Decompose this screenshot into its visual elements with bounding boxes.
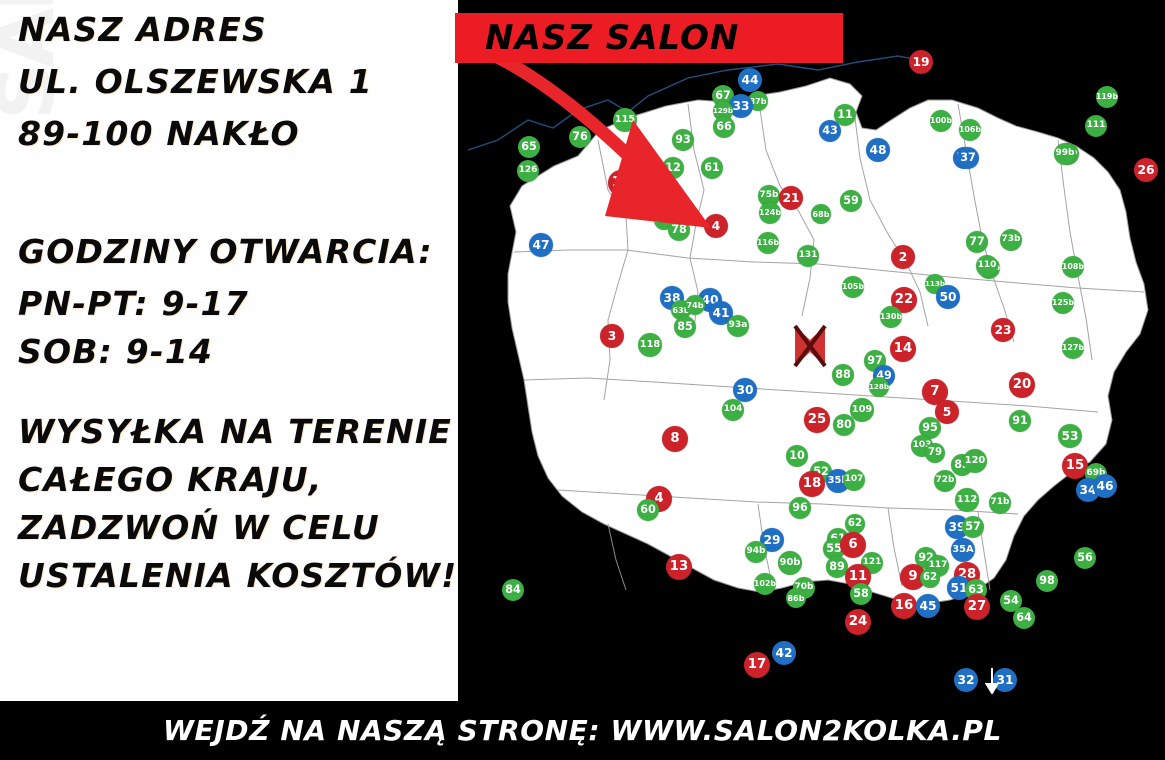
map-marker[interactable]: 71b [989,492,1011,514]
map-marker[interactable]: 35A [951,538,975,562]
map-marker[interactable]: 74b [685,295,705,315]
map-marker[interactable]: 105b [842,276,864,298]
info-panel: SALON 2 KOŁKA NASZ ADRESUL. OLSZEWSKA 18… [0,0,458,701]
map-marker[interactable]: 108b [1062,256,1084,278]
map-marker[interactable]: 85 [674,316,696,338]
map-marker[interactable]: 73b [1000,229,1022,251]
map-marker[interactable]: 112 [955,488,979,512]
map-marker[interactable]: 25 [804,407,830,433]
map-marker[interactable]: 100b [930,110,952,132]
map-marker[interactable]: 126 [517,160,539,182]
map-marker[interactable]: 80 [833,414,855,436]
map-marker[interactable]: 2 [891,245,915,269]
map-marker[interactable]: 119b [1096,86,1118,108]
map-marker[interactable]: 93 [672,129,694,151]
map-marker[interactable]: 12 [662,157,684,179]
map-marker[interactable]: 62 [845,514,865,534]
poster-root: SALON 2 KOŁKA NASZ ADRESUL. OLSZEWSKA 18… [0,0,1165,760]
map-marker[interactable]: 48 [866,138,890,162]
map-marker[interactable]: 17 [744,652,770,678]
map-marker[interactable]: 79 [925,443,945,463]
map-marker[interactable]: 88 [832,364,854,386]
map-marker[interactable]: 66 [713,116,735,138]
map-marker[interactable]: 32 [954,668,978,692]
map-marker[interactable]: 104 [722,399,744,421]
map-marker[interactable]: 45 [916,594,940,618]
nasz-salon-banner: NASZ SALON [455,13,843,63]
map-marker[interactable]: 57 [962,516,984,538]
map-marker[interactable]: 44 [738,68,762,92]
map-marker[interactable]: 130b [880,306,902,328]
map-marker[interactable]: 128b [869,377,889,397]
map-marker[interactable]: 27 [964,594,990,620]
info-line: PN-PT: 9-17 [18,284,249,323]
map-marker[interactable]: 86b [786,588,806,608]
map-marker[interactable]: 78 [668,219,690,241]
map-marker[interactable]: 94b [745,541,767,563]
map-marker[interactable]: 93a [727,315,749,337]
map-marker[interactable]: 47 [529,233,553,257]
map-marker[interactable]: 46 [1093,474,1117,498]
website-text: WEJDŹ NA NASZĄ STRONĘ: WWW.SALON2KOLKA.P… [163,714,1002,747]
map-marker[interactable]: 72b [934,470,956,492]
info-line: GODZINY OTWARCIA: [18,232,433,271]
map-marker[interactable]: 84 [502,579,524,601]
map-marker[interactable]: 111 [1085,115,1107,137]
map-marker[interactable]: 90b [778,551,802,575]
map-marker[interactable]: 98 [1036,570,1058,592]
map-marker[interactable]: 19 [909,50,933,74]
map-marker[interactable]: 125b [1052,292,1074,314]
map-marker[interactable]: 68b [811,204,831,224]
info-line: 89-100 NAKŁO [18,114,300,153]
map-marker[interactable]: 110 [976,255,998,277]
map-marker[interactable]: 50 [936,285,960,309]
map-marker[interactable]: 99b [1054,143,1076,165]
map-marker[interactable]: 76 [569,126,591,148]
map-marker[interactable]: 53 [1058,424,1082,448]
map-marker[interactable]: 16 [891,593,917,619]
footer-bar: WEJDŹ NA NASZĄ STRONĘ: WWW.SALON2KOLKA.P… [0,701,1165,760]
map-marker[interactable]: 124b [759,202,781,224]
map-marker[interactable]: 13 [666,554,692,580]
map-marker[interactable]: 60 [637,499,659,521]
map-marker[interactable]: 26 [1134,158,1158,182]
map-marker[interactable]: 116b [757,232,779,254]
map-marker[interactable]: 59 [840,190,862,212]
info-line: ZADZWOŃ W CELU [18,508,380,547]
map-marker[interactable]: 3 [600,324,624,348]
map-marker[interactable]: 43 [819,120,841,142]
poland-map[interactable]: 19119b446787b33129b11100b66115106b431117… [458,0,1165,701]
map-marker[interactable]: 127b [1062,337,1084,359]
info-line: NASZ ADRES [18,10,267,49]
map-marker[interactable]: 4 [704,214,728,238]
map-marker[interactable]: 8 [662,426,688,452]
map-marker[interactable]: 58 [850,583,872,605]
info-line: CAŁEGO KRAJU, [18,460,322,499]
map-marker[interactable]: 131 [797,245,819,267]
map-marker[interactable]: 37 [957,147,979,169]
info-line: USTALENIA KOSZTÓW! [18,556,457,595]
info-line: UL. OLSZEWSKA 1 [18,62,373,101]
map-marker[interactable]: 23 [991,318,1015,342]
map-marker[interactable]: 20 [1009,372,1035,398]
map-marker[interactable]: 77 [966,231,988,253]
map-marker[interactable]: 10 [608,170,634,196]
map-marker[interactable]: 118 [638,333,662,357]
map-marker[interactable]: 91 [1009,410,1031,432]
map-marker[interactable]: 107 [843,469,865,491]
map-marker[interactable]: 30 [733,378,757,402]
map-marker[interactable]: 65 [518,136,540,158]
banner-label: NASZ SALON [485,18,739,58]
map-marker[interactable]: 24 [845,609,871,635]
map-marker[interactable]: 18 [799,471,825,497]
map-marker[interactable]: 56 [1074,547,1096,569]
map-marker[interactable]: 6 [840,532,866,558]
map-marker[interactable]: 62 [920,568,940,588]
map-marker[interactable]: 42 [772,641,796,665]
map-marker[interactable]: 64 [1013,607,1035,629]
map-marker[interactable]: 10 [786,445,808,467]
down-arrow-icon [985,668,999,694]
map-marker[interactable]: 14 [890,336,916,362]
info-line: WYSYŁKA NA TERENIE [18,412,452,451]
info-line: SOB: 9-14 [18,332,213,371]
map-marker[interactable]: 21 [779,186,803,210]
map-marker[interactable]: 102b [754,573,776,595]
map-marker[interactable]: 115 [613,108,637,132]
map-marker[interactable]: 109 [850,398,874,422]
map-marker[interactable]: 120 [963,449,987,473]
map-marker[interactable]: 61 [701,157,723,179]
map-marker[interactable]: 96 [789,497,811,519]
map-marker[interactable]: 106b [959,119,981,141]
